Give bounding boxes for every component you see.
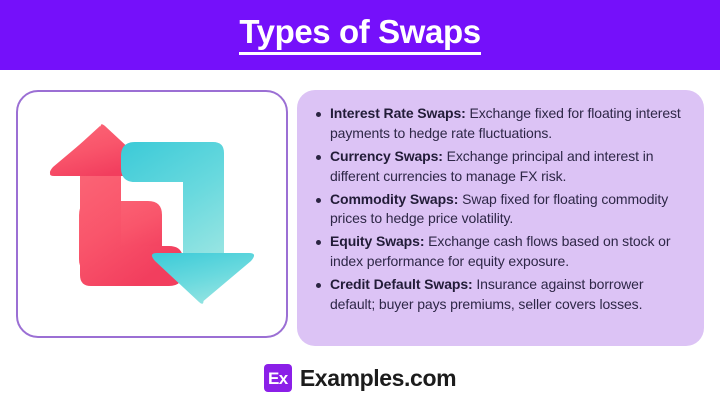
page-title: Types of Swaps bbox=[239, 15, 480, 55]
swap-types-list: Interest Rate Swaps: Exchange fixed for … bbox=[311, 104, 688, 315]
bullet-term: Currency Swaps: bbox=[330, 148, 443, 164]
bullet-term: Credit Default Swaps: bbox=[330, 276, 473, 292]
bullet-term: Commodity Swaps: bbox=[330, 191, 458, 207]
list-item: Equity Swaps: Exchange cash flows based … bbox=[311, 232, 688, 272]
list-item: Credit Default Swaps: Insurance against … bbox=[311, 275, 688, 315]
brand-logo[interactable]: Ex Examples.com bbox=[264, 364, 456, 392]
swap-types-panel: Interest Rate Swaps: Exchange fixed for … bbox=[297, 90, 704, 346]
list-item: Commodity Swaps: Swap fixed for floating… bbox=[311, 190, 688, 230]
examples-logo-icon: Ex bbox=[264, 364, 292, 392]
brand-name: Examples.com bbox=[300, 367, 456, 390]
header-banner: Types of Swaps bbox=[0, 0, 720, 70]
footer: Ex Examples.com bbox=[0, 352, 720, 404]
illustration-card bbox=[16, 90, 288, 338]
list-item: Currency Swaps: Exchange principal and i… bbox=[311, 147, 688, 187]
infographic-page: Types of Swaps bbox=[0, 0, 720, 404]
swap-arrows-icon bbox=[38, 109, 266, 319]
bullet-term: Equity Swaps: bbox=[330, 233, 424, 249]
list-item: Interest Rate Swaps: Exchange fixed for … bbox=[311, 104, 688, 144]
bullet-term: Interest Rate Swaps: bbox=[330, 105, 466, 121]
